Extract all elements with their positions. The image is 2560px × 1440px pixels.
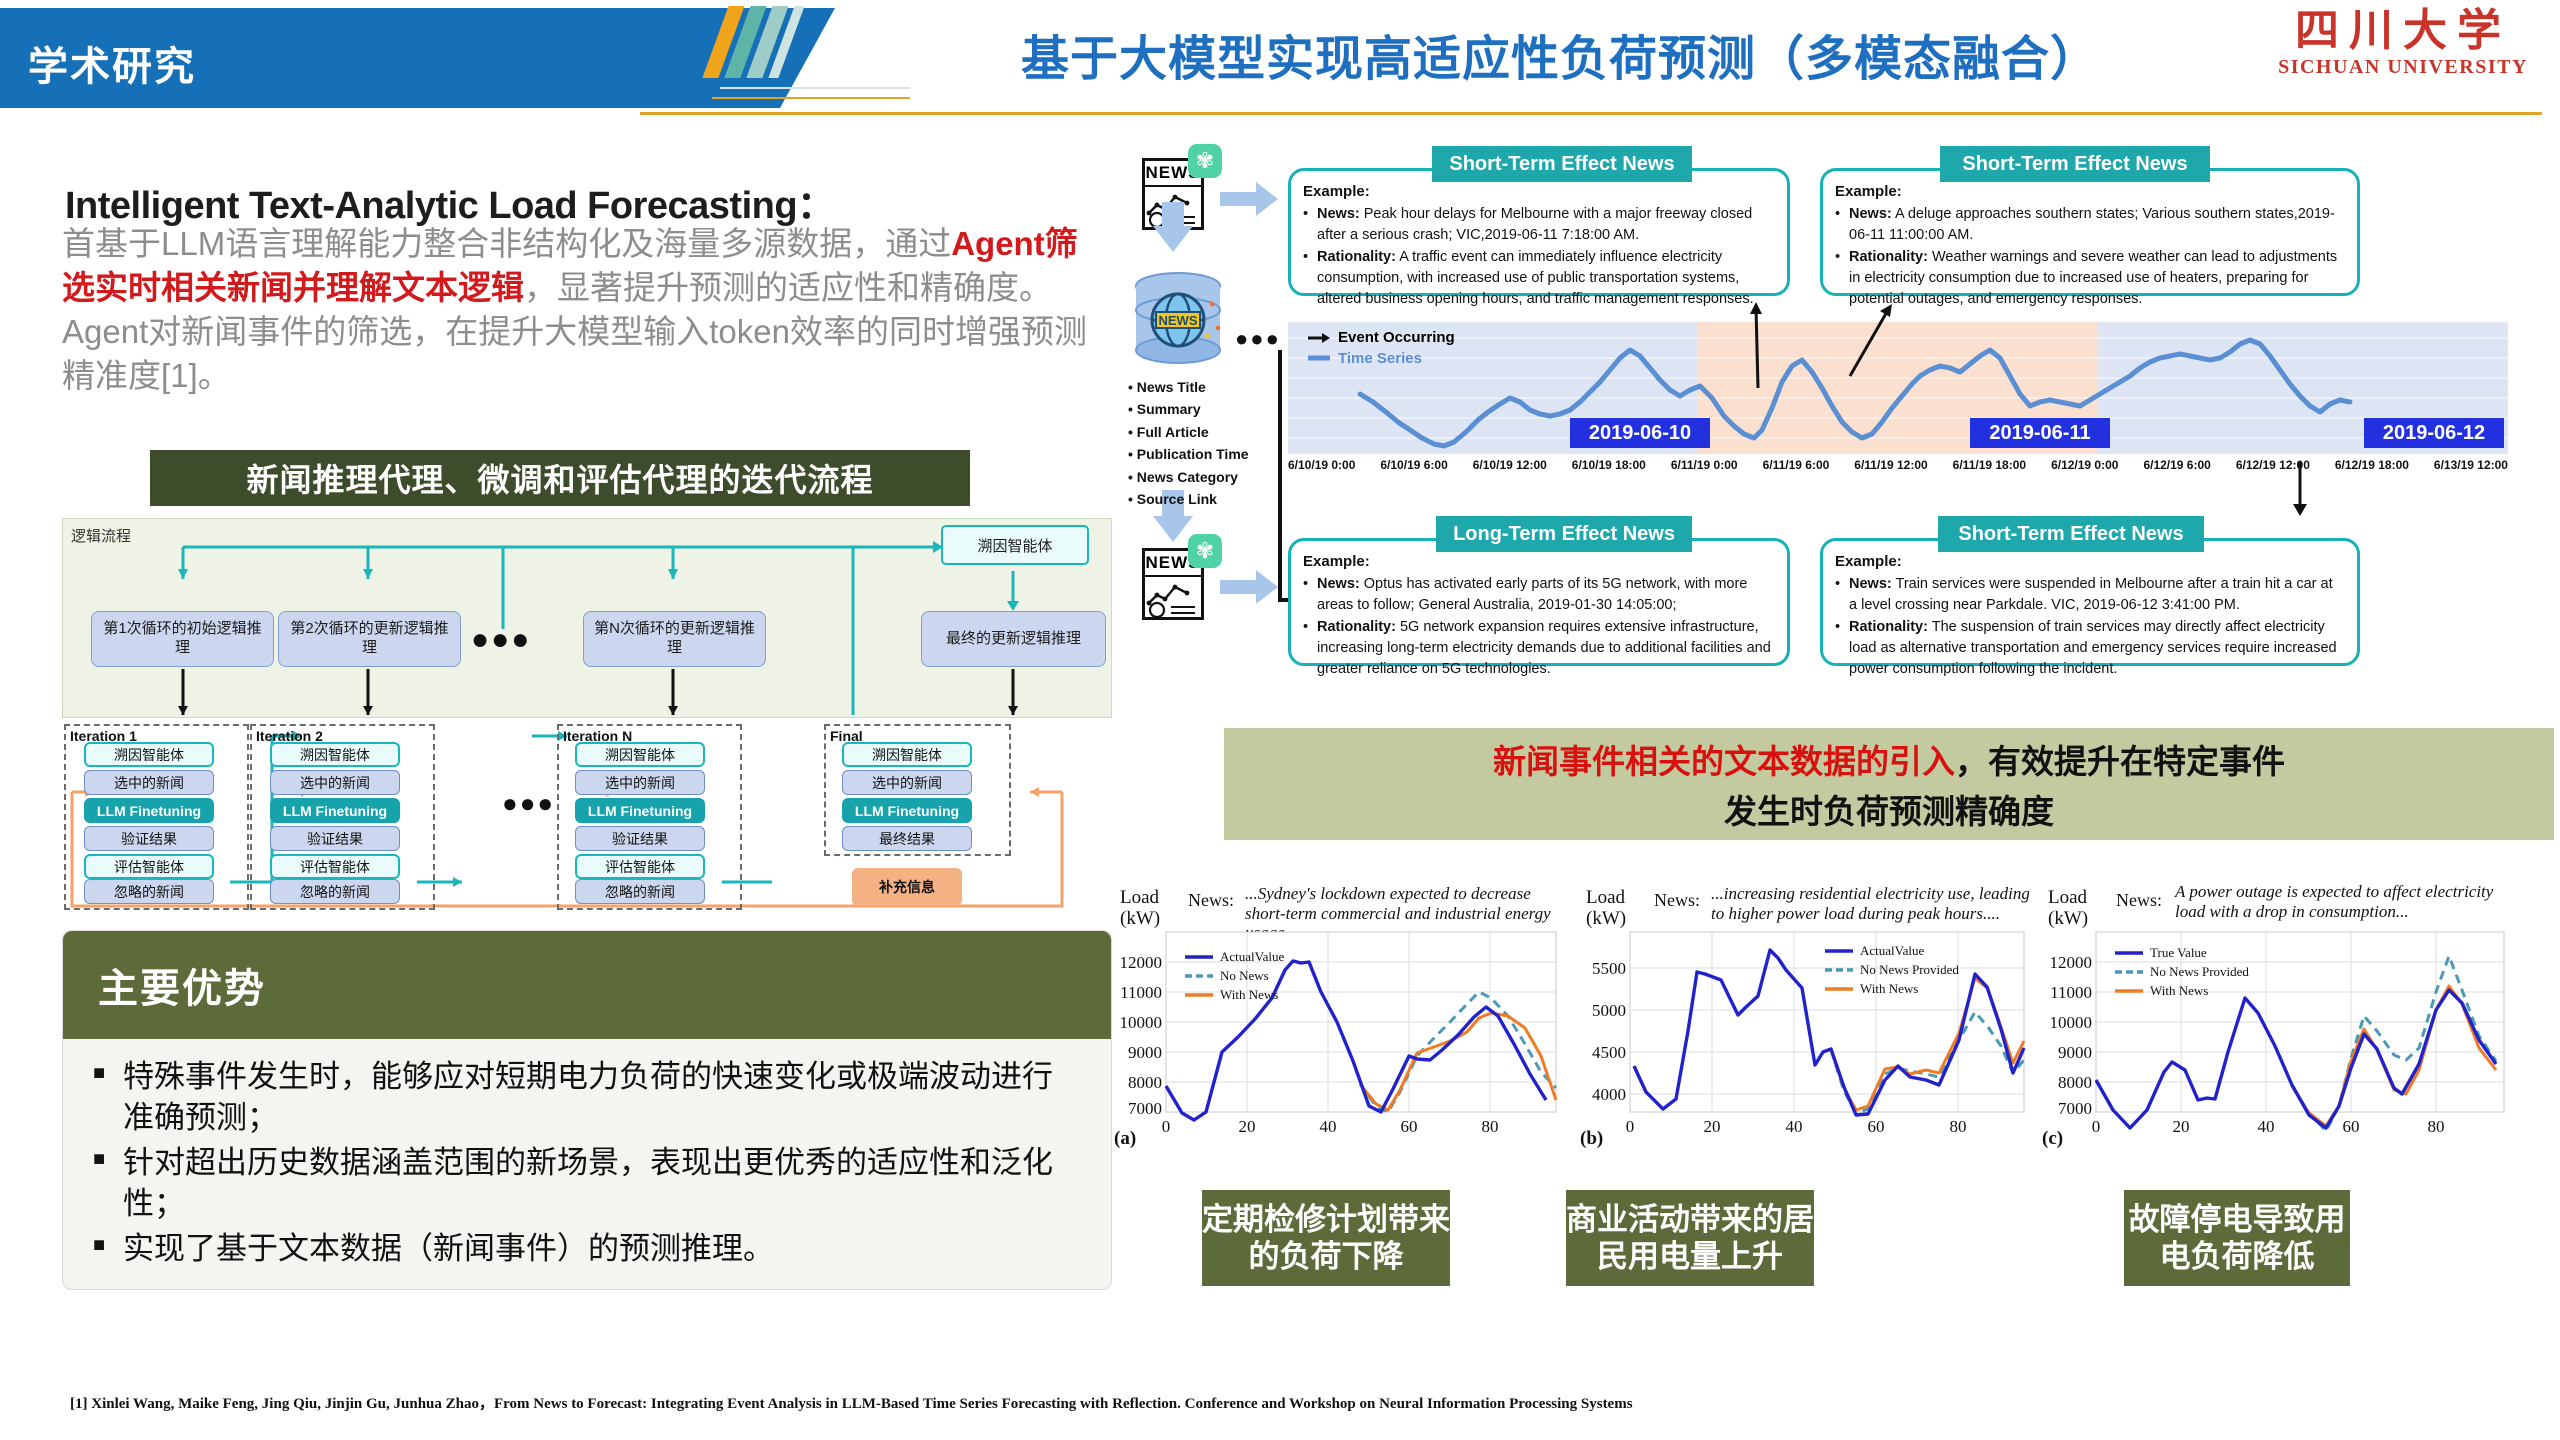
news-field-item: Full Article (1128, 421, 1249, 443)
tick: 6/11/19 18:00 (1953, 458, 2026, 472)
bullet-square-icon: ■ (93, 1229, 123, 1270)
tick: 6/12/19 6:00 (2143, 458, 2210, 472)
caption-commercial-rise: 商业活动带来的居民用电量上升 (1566, 1190, 1814, 1286)
event-arrow-icon (1306, 330, 1332, 346)
advantages-list: ■ 特殊事件发生时，能够应对短期电力负荷的快速变化或极端波动进行准确预测； ■ … (63, 1039, 1111, 1270)
flow-node-cycle-1: 第1次循环的初始逻辑推理 (91, 611, 274, 667)
legend-line-nonews-icon (1184, 971, 1214, 981)
card4-example-label: Example: (1835, 551, 2343, 572)
card4-news-line: • News: Train services were suspended in… (1835, 574, 2343, 615)
svg-text:60: 60 (1401, 1117, 1418, 1136)
news-card-tag-2: Short-Term Effect News (1940, 146, 2210, 182)
chart-c-ylabel: Load(kW) (2048, 888, 2088, 930)
card2-bullet-icon: • (1835, 204, 1849, 245)
svg-text:12000: 12000 (1120, 953, 1163, 972)
news-field-item: News Category (1128, 466, 1249, 488)
news-field-item: Source Link (1128, 488, 1249, 510)
news-card-short-term-1[interactable]: Example: • News: Peak hour delays for Me… (1288, 168, 1790, 296)
forecast-chart-a: Load(kW) News: ...Sydney's lockdown expe… (1110, 870, 1580, 1190)
timeline-date-label-0610: 2019-06-10 (1570, 418, 1710, 448)
svg-text:60: 60 (1868, 1117, 1885, 1136)
chart-a-legend-2: With News (1220, 986, 1278, 1005)
statement-highlight: 新闻事件相关的文本数据的引入 (1493, 743, 1955, 780)
tick: 6/11/19 6:00 (1763, 458, 1830, 472)
chart-a-legend: ActualValue No News With News (1184, 948, 1284, 1005)
iter1-node-ignored-news: 忽略的新闻 (84, 879, 214, 904)
tick: 6/12/19 18:00 (2335, 458, 2409, 472)
university-logo: 四川大学 SICHUAN UNIVERSITY (2268, 8, 2538, 108)
slide-root: 学术研究 基于大模型实现高适应性负荷预测（多模态融合） 四川大学 SICHUAN… (0, 0, 2560, 1440)
lead-part1: 首基于LLM语言理解能力整合非结构化及海量多源数据，通过 (62, 225, 951, 262)
chart-a-legend-1: No News (1220, 967, 1269, 986)
advantage-item: ■ 特殊事件发生时，能够应对短期电力负荷的快速变化或极端波动进行准确预测； (93, 1057, 1077, 1139)
svg-text:10000: 10000 (1120, 1013, 1163, 1032)
svg-text:11000: 11000 (1120, 983, 1162, 1002)
final-node-final-result: 最终结果 (842, 826, 972, 851)
chart-c-news-text: A power outage is expected to affect ele… (2175, 882, 2520, 921)
page-title: 基于大模型实现高适应性负荷预测（多模态融合） (860, 14, 2260, 94)
tick: 6/13/19 12:00 (2434, 458, 2508, 472)
tick: 6/12/19 0:00 (2051, 458, 2118, 472)
header-gold-rule (640, 112, 2542, 115)
card1-rationality-line: • Rationality: A traffic event can immed… (1303, 247, 1773, 309)
svg-text:20: 20 (1239, 1117, 1256, 1136)
series-line-icon (1306, 351, 1332, 365)
chart-c-legend-0: True Value (2150, 944, 2207, 963)
card1-news-line: • News: Peak hour delays for Melbourne w… (1303, 204, 1773, 245)
card4-news-text: Train services were suspended in Melbour… (1849, 576, 2333, 613)
svg-text:8000: 8000 (2058, 1073, 2092, 1092)
advantages-header: 主要优势 (63, 931, 1111, 1039)
svg-text:40: 40 (1786, 1117, 1803, 1136)
legend-line-withnews-icon (2114, 986, 2144, 996)
svg-text:0: 0 (1162, 1117, 1171, 1136)
svg-text:80: 80 (1950, 1117, 1967, 1136)
tick: 6/10/19 12:00 (1473, 458, 1547, 472)
logic-flow-panel: 逻辑流程 (62, 518, 1112, 718)
svg-text:4500: 4500 (1592, 1043, 1626, 1062)
news-database-icon: NEWS (1132, 270, 1224, 366)
tick: 6/10/19 0:00 (1288, 458, 1355, 472)
chart-b-legend-1: No News Provided (1860, 961, 1959, 980)
news-field-item: News Title (1128, 376, 1249, 398)
left-column: Intelligent Text-Analytic Load Forecasti… (0, 130, 1120, 1380)
statement-line-2: 发生时负荷预测精确度 (1724, 785, 2054, 833)
forecast-chart-c: Load(kW) News: A power outage is expecte… (2040, 870, 2530, 1190)
advantage-item: ■ 针对超出历史数据涵盖范围的新场景，表现出更优秀的适应性和泛化性； (93, 1143, 1077, 1225)
flow-ellipsis: ●●● (471, 623, 531, 657)
chart-a-legend-0: ActualValue (1220, 948, 1284, 967)
itern-node-ignored-news: 忽略的新闻 (575, 879, 705, 904)
caption-outage-drop: 故障停电导致用电负荷降低 (2124, 1190, 2350, 1286)
chart-a-plot: 120001100010000 900080007000 02040 6080 (1110, 928, 1580, 1138)
card1-example-label: Example: (1303, 181, 1773, 202)
svg-text:10000: 10000 (2050, 1013, 2093, 1032)
svg-text:80: 80 (2428, 1117, 2445, 1136)
timeline-date-label-0612: 2019-06-12 (2364, 418, 2504, 448)
card4-rationality-line: • Rationality: The suspension of train s… (1835, 617, 2343, 679)
lead-paragraph: 首基于LLM语言理解能力整合非结构化及海量多源数据，通过Agent筛选实时相关新… (62, 222, 1102, 398)
svg-text:12000: 12000 (2050, 953, 2093, 972)
chart-c-legend: True Value No News Provided With News (2114, 944, 2249, 1001)
event-annotation-arrow-down (2280, 460, 2340, 530)
chart-b-legend: ActualValue No News Provided With News (1824, 942, 1959, 999)
card1-news-text: Peak hour delays for Melbourne with a ma… (1317, 206, 1752, 243)
chart-b-legend-2: With News (1860, 980, 1918, 999)
chart-b-news-text: ...increasing residential electricity us… (1711, 884, 2031, 923)
tick: 6/11/19 0:00 (1671, 458, 1738, 472)
svg-text:80: 80 (1482, 1117, 1499, 1136)
itern-node-selected-news: 选中的新闻 (575, 770, 705, 795)
card3-example-label: Example: (1303, 551, 1773, 572)
svg-text:40: 40 (2258, 1117, 2275, 1136)
card3-news-text: Optus has activated early parts of its 5… (1317, 576, 1747, 613)
card4-bullet-icon: • (1835, 574, 1849, 615)
statement-rest: ，有效提升在特定事件 (1955, 743, 2285, 780)
statement-line-1: 新闻事件相关的文本数据的引入，有效提升在特定事件 (1493, 735, 2285, 783)
advantages-panel: 主要优势 ■ 特殊事件发生时，能够应对短期电力负荷的快速变化或极端波动进行准确预… (62, 930, 1112, 1290)
svg-text:40: 40 (1320, 1117, 1337, 1136)
card1-news-label: News: (1317, 206, 1360, 222)
svg-text:60: 60 (2343, 1117, 2360, 1136)
card2-news-label: News: (1849, 206, 1892, 222)
svg-text:9000: 9000 (1128, 1043, 1162, 1062)
news-fields-list: News Title Summary Full Article Publicat… (1128, 376, 1249, 510)
iter1-node-validation: 验证结果 (84, 826, 214, 851)
chart-a-ylabel: Load(kW) (1120, 888, 1160, 930)
itern-node-abduction: 溯因智能体 (575, 742, 705, 767)
news-field-item: Publication Time (1128, 443, 1249, 465)
card2-news-text: A deluge approaches southern states; Var… (1849, 206, 2335, 243)
iterations-ellipsis: ●●● (502, 788, 555, 819)
news-card-tag-4: Short-Term Effect News (1938, 516, 2204, 552)
legend-line-withnews-icon (1824, 984, 1854, 994)
iterations-panel: Iteration 1 溯因智能体 选中的新闻 LLM Finetuning 验… (62, 720, 1112, 910)
itern-node-eval-agent: 评估智能体 (575, 854, 705, 879)
bullet-square-icon: ■ (93, 1143, 123, 1225)
timeline-legend-event: Event Occurring (1338, 330, 1455, 347)
iter2-node-ignored-news: 忽略的新闻 (270, 879, 400, 904)
legend-line-nonews-icon (1824, 965, 1854, 975)
card2-example-label: Example: (1835, 181, 2343, 202)
news-card-short-term-2[interactable]: Example: • News: A deluge approaches sou… (1820, 168, 2360, 296)
logo-english-name: SICHUAN UNIVERSITY (2268, 56, 2538, 79)
header-category-label: 学术研究 (28, 34, 196, 92)
svg-text:0: 0 (2092, 1117, 2101, 1136)
lead-heading: Intelligent Text-Analytic Load Forecasti… (65, 174, 835, 229)
news-field-item: Summary (1128, 398, 1249, 420)
iter2-node-llm-finetuning: LLM Finetuning (270, 798, 400, 823)
legend-line-withnews-icon (1184, 990, 1214, 1000)
svg-text:5500: 5500 (1592, 959, 1626, 978)
news-card-short-term-3[interactable]: Example: • News: Train services were sus… (1820, 538, 2360, 666)
advantage-text-3: 实现了基于文本数据（新闻事件）的预测推理。 (123, 1229, 774, 1270)
final-node-selected-news: 选中的新闻 (842, 770, 972, 795)
iter2-node-eval-agent: 评估智能体 (270, 854, 400, 879)
flow-section-title: 新闻推理代理、微调和评估代理的迭代流程 (150, 450, 970, 506)
bullet-square-icon: ■ (93, 1057, 123, 1139)
logo-chinese-name: 四川大学 (2268, 8, 2538, 54)
iter1-node-llm-finetuning: LLM Finetuning (84, 798, 214, 823)
svg-text:0: 0 (1626, 1117, 1635, 1136)
supplementary-info-box: 补充信息 (852, 868, 962, 906)
legend-line-truevalue-icon (2114, 948, 2144, 958)
chart-c-legend-2: With News (2150, 982, 2208, 1001)
final-node-llm-finetuning: LLM Finetuning (842, 798, 972, 823)
flow-node-final-update: 最终的更新逻辑推理 (921, 611, 1106, 667)
chart-b-plot: 5500500045004000 02040 6080 (1578, 928, 2048, 1138)
timeline-legend: Event Occurring Time Series (1306, 330, 1455, 367)
card1-bullet-icon: • (1303, 204, 1317, 245)
page-header: 学术研究 基于大模型实现高适应性负荷预测（多模态融合） 四川大学 SICHUAN… (0, 0, 2560, 118)
chart-c-legend-1: No News Provided (2150, 963, 2249, 982)
chart-b-ylabel: Load(kW) (1586, 888, 1626, 930)
iter2-node-abduction: 溯因智能体 (270, 742, 400, 767)
flow-node-cycle-2: 第2次循环的更新逻辑推理 (278, 611, 461, 667)
right-column: NEWS ✾ NEWS (1120, 130, 2560, 1380)
news-card-long-term[interactable]: Example: • News: Optus has activated ear… (1288, 538, 1790, 666)
flow-node-cycle-n: 第N次循环的更新逻辑推理 (583, 611, 766, 667)
itern-node-llm-finetuning: LLM Finetuning (575, 798, 705, 823)
svg-text:5000: 5000 (1592, 1001, 1626, 1020)
advantage-text-1: 特殊事件发生时，能够应对短期电力负荷的快速变化或极端波动进行准确预测； (123, 1057, 1077, 1139)
card3-news-line: • News: Optus has activated early parts … (1303, 574, 1773, 615)
tick: 6/10/19 6:00 (1380, 458, 1447, 472)
card4-news-label: News: (1849, 576, 1892, 592)
advantage-text-2: 针对超出历史数据涵盖范围的新场景，表现出更优秀的适应性和泛化性； (123, 1143, 1077, 1225)
final-node-abduction: 溯因智能体 (842, 742, 972, 767)
chart-a-news-label: News: (1188, 890, 1234, 911)
iter2-node-selected-news: 选中的新闻 (270, 770, 400, 795)
forecast-chart-b: Load(kW) News: ...increasing residential… (1578, 870, 2048, 1190)
svg-text:7000: 7000 (2058, 1099, 2092, 1118)
svg-text:7000: 7000 (1128, 1099, 1162, 1118)
svg-text:9000: 9000 (2058, 1043, 2092, 1062)
legend-line-actual-icon (1184, 952, 1214, 962)
tick: 6/10/19 18:00 (1572, 458, 1646, 472)
card3-bullet-icon: • (1303, 617, 1317, 679)
card2-rationality-label: Rationality: (1849, 249, 1928, 265)
card3-bullet-icon: • (1303, 574, 1317, 615)
news-card-tag-1: Short-Term Effect News (1432, 146, 1692, 182)
iter1-node-eval-agent: 评估智能体 (84, 854, 214, 879)
card4-bullet-icon: • (1835, 617, 1849, 679)
card3-rationality-label: Rationality: (1317, 619, 1396, 635)
caption-maintenance-drop: 定期检修计划带来的负荷下降 (1202, 1190, 1450, 1286)
svg-text:11000: 11000 (2050, 983, 2092, 1002)
card3-news-label: News: (1317, 576, 1360, 592)
chart-b-legend-0: ActualValue (1860, 942, 1924, 961)
iter1-node-abduction: 溯因智能体 (84, 742, 214, 767)
tick: 6/11/19 12:00 (1854, 458, 1927, 472)
advantages-title: 主要优势 (98, 956, 266, 1014)
flow-node-abduction-agent: 溯因智能体 (941, 525, 1089, 565)
svg-text:20: 20 (2173, 1117, 2190, 1136)
advantage-item: ■ 实现了基于文本数据（新闻事件）的预测推理。 (93, 1229, 1077, 1270)
svg-text:NEWS: NEWS (1159, 313, 1198, 328)
timeline-date-label-0611: 2019-06-11 (1970, 418, 2110, 448)
iter2-node-validation: 验证结果 (270, 826, 400, 851)
citation-footnote: [1] Xinlei Wang, Maike Feng, Jing Qiu, J… (70, 1392, 2470, 1413)
key-statement-banner: 新闻事件相关的文本数据的引入，有效提升在特定事件 发生时负荷预测精确度 (1224, 728, 2554, 840)
card3-rationality-line: • Rationality: 5G network expansion requ… (1303, 617, 1773, 679)
chart-c-news-label: News: (2116, 890, 2162, 911)
legend-line-actual-icon (1824, 946, 1854, 956)
svg-text:8000: 8000 (1128, 1073, 1162, 1092)
news-card-tag-3: Long-Term Effect News (1436, 516, 1692, 552)
svg-text:4000: 4000 (1592, 1085, 1626, 1104)
card4-rationality-label: Rationality: (1849, 619, 1928, 635)
iter1-node-selected-news: 选中的新闻 (84, 770, 214, 795)
card2-news-line: • News: A deluge approaches southern sta… (1835, 204, 2343, 245)
timeline-legend-series: Time Series (1338, 351, 1422, 368)
chart-b-news-label: News: (1654, 890, 1700, 911)
card1-rationality-label: Rationality: (1317, 249, 1396, 265)
card1-bullet-icon: • (1303, 247, 1317, 309)
legend-line-nonews-icon (2114, 967, 2144, 977)
itern-node-validation: 验证结果 (575, 826, 705, 851)
svg-text:20: 20 (1704, 1117, 1721, 1136)
event-annotation-arrows (1720, 300, 2140, 390)
